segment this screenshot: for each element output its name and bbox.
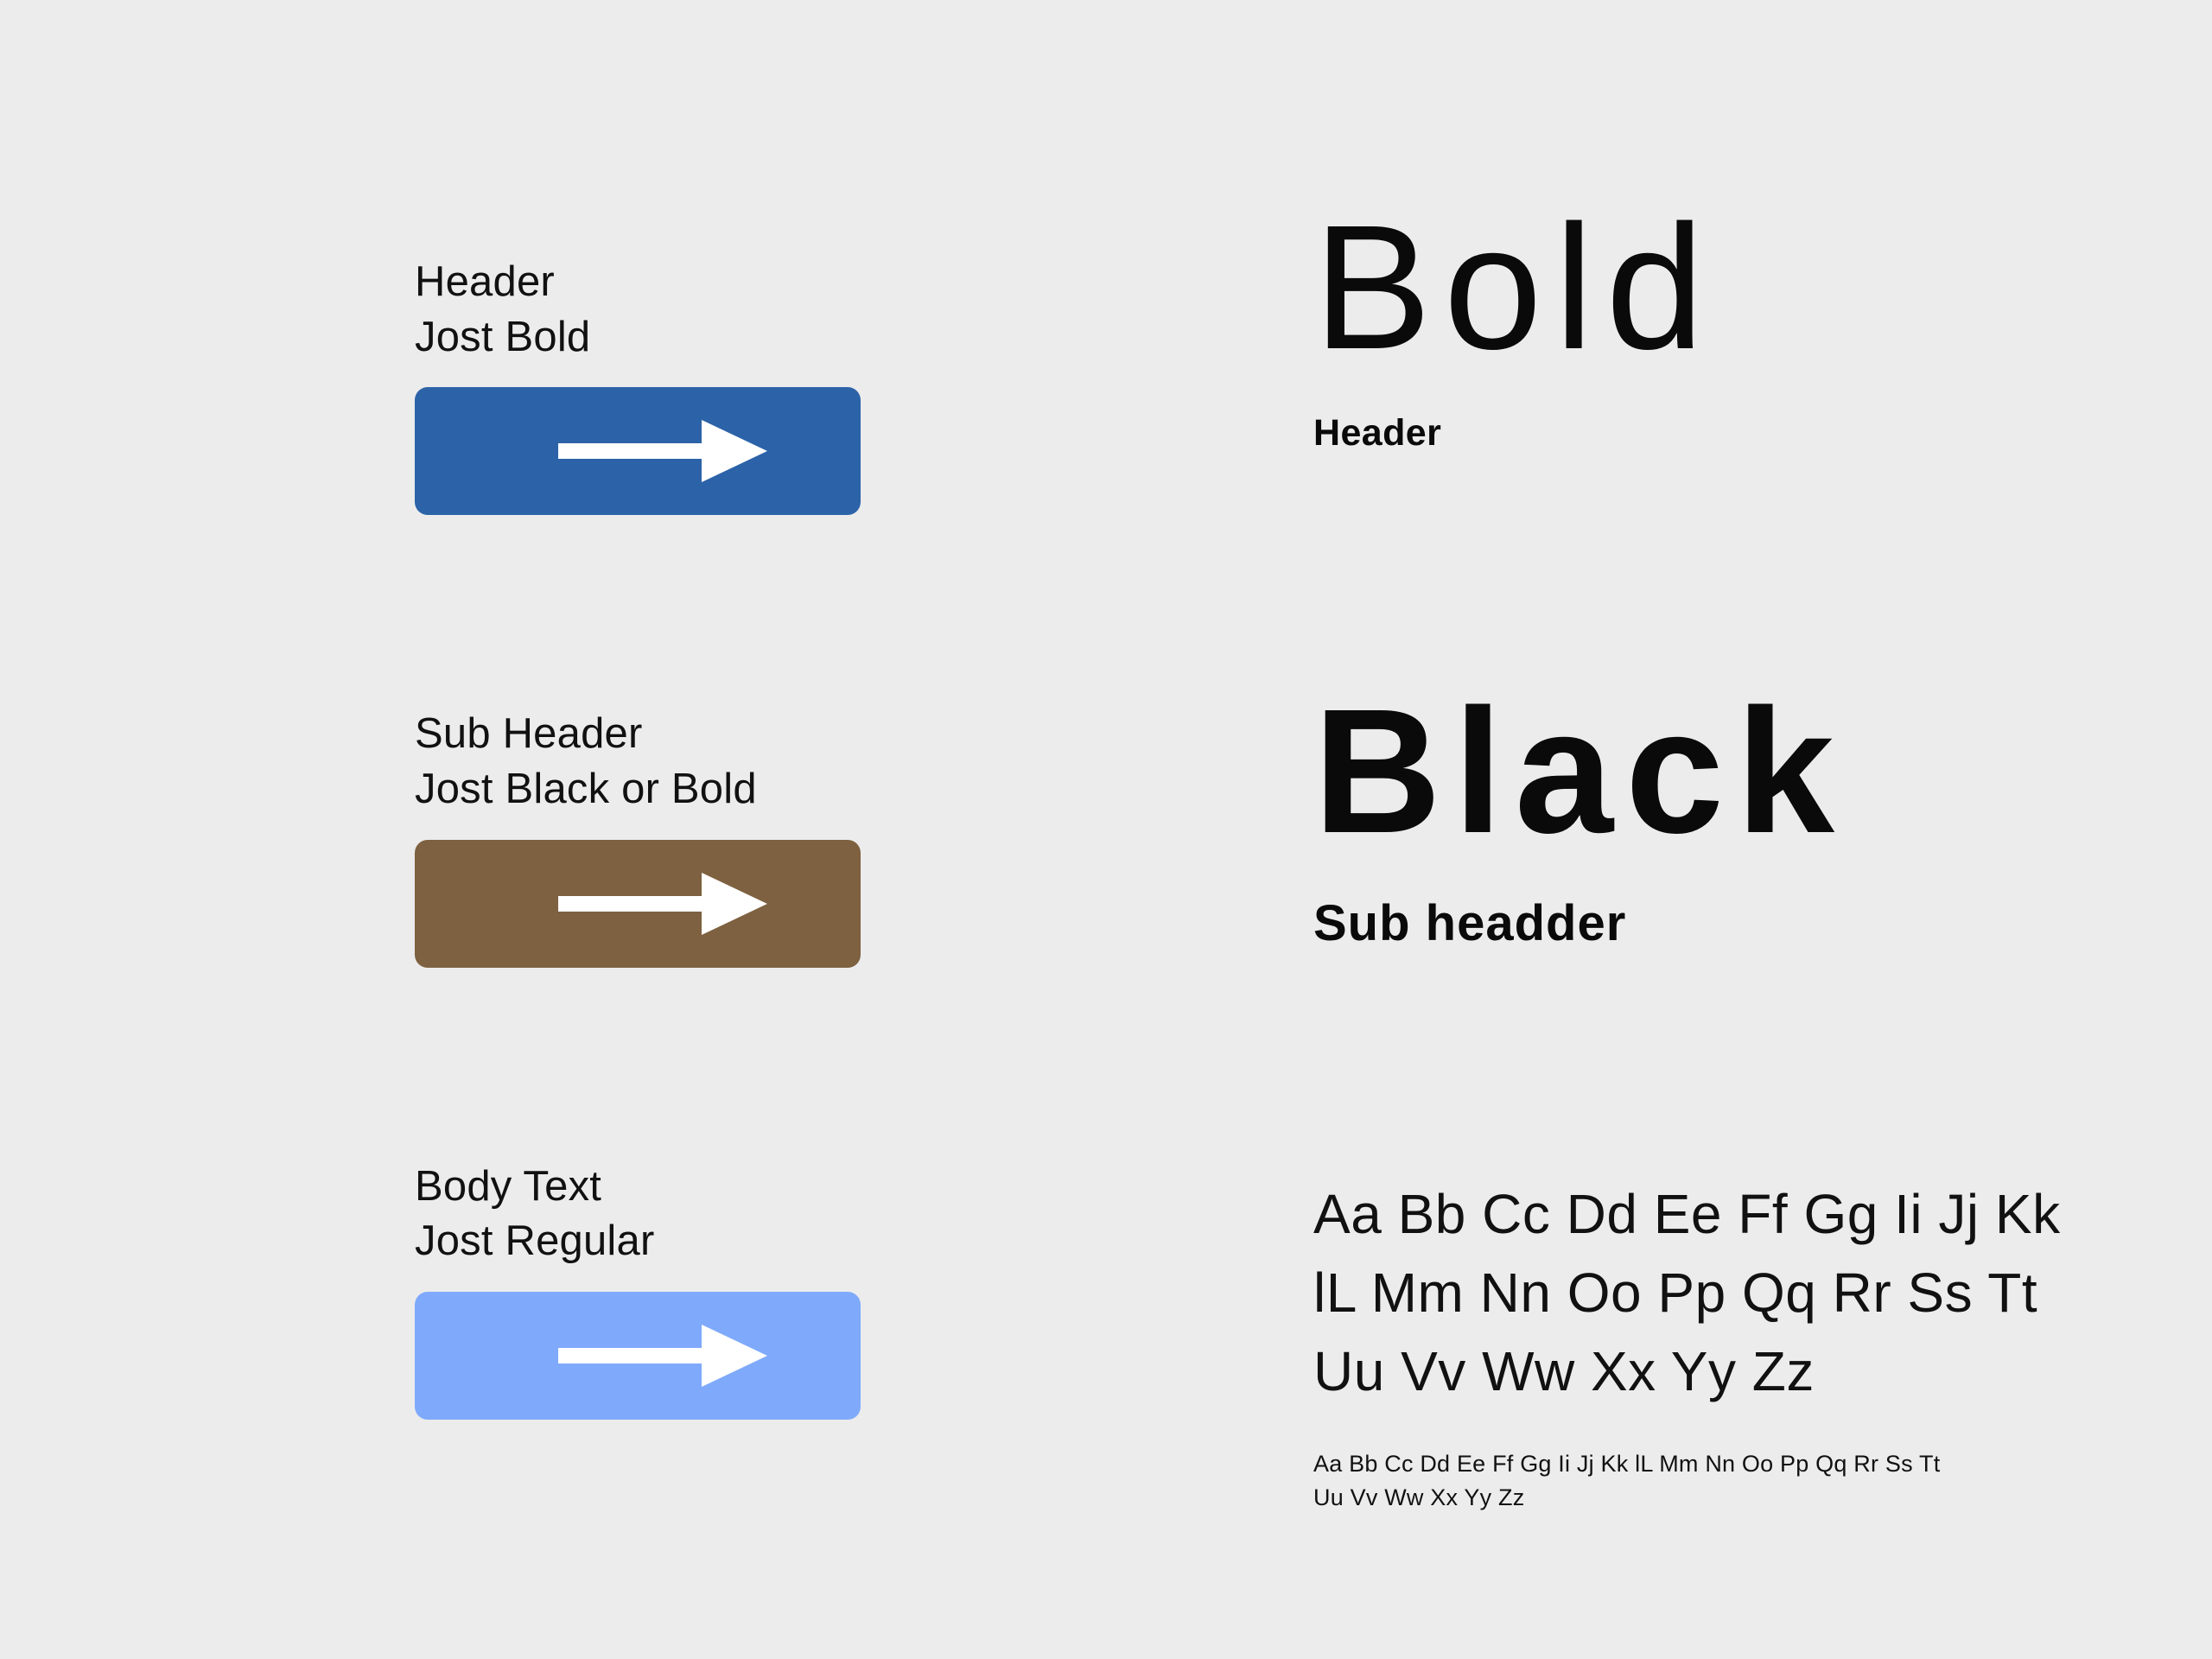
specimen-group-black: Black Sub headder bbox=[1313, 683, 1847, 952]
typography-style-guide: Header Jost Bold Sub Header Jost Black o… bbox=[0, 0, 2212, 1659]
style-font-label-sub-header: Jost Black or Bold bbox=[415, 762, 899, 817]
style-block-sub-header: Sub Header Jost Black or Bold bbox=[415, 707, 899, 967]
specimen-word-bold: Bold bbox=[1313, 199, 1716, 376]
style-label-group-body-text: Body Text Jost Regular bbox=[415, 1160, 899, 1269]
alphabet-small-line-2: Uu Vv Ww Xx Yy Zz bbox=[1313, 1481, 2061, 1515]
style-block-header: Header Jost Bold bbox=[415, 255, 899, 515]
color-swatch-button-body-text[interactable] bbox=[415, 1292, 861, 1420]
style-definitions-column: Header Jost Bold Sub Header Jost Black o… bbox=[415, 255, 899, 1420]
specimen-caption-sub-headder: Sub headder bbox=[1313, 894, 1847, 952]
style-block-body-text: Body Text Jost Regular bbox=[415, 1160, 899, 1420]
arrow-right-icon bbox=[558, 868, 767, 940]
color-swatch-button-sub-header[interactable] bbox=[415, 840, 861, 968]
alphabet-small: Aa Bb Cc Dd Ee Ff Gg Ii Jj Kk lL Mm Nn O… bbox=[1313, 1447, 2061, 1515]
alphabet-large-line-2: lL Mm Nn Oo Pp Qq Rr Ss Tt bbox=[1313, 1254, 2061, 1332]
style-font-label-body-text: Jost Regular bbox=[415, 1214, 899, 1269]
arrow-right-icon bbox=[558, 415, 767, 487]
style-font-label-header: Jost Bold bbox=[415, 310, 899, 365]
color-swatch-button-header[interactable] bbox=[415, 387, 861, 515]
alphabet-large-line-3: Uu Vv Ww Xx Yy Zz bbox=[1313, 1332, 2061, 1411]
alphabet-large: Aa Bb Cc Dd Ee Ff Gg Ii Jj Kk lL Mm Nn O… bbox=[1313, 1175, 2061, 1411]
specimen-group-alphabet: Aa Bb Cc Dd Ee Ff Gg Ii Jj Kk lL Mm Nn O… bbox=[1313, 1175, 2061, 1515]
specimen-word-black: Black bbox=[1313, 683, 1847, 860]
style-role-label-header: Header bbox=[415, 255, 899, 310]
alphabet-small-line-1: Aa Bb Cc Dd Ee Ff Gg Ii Jj Kk lL Mm Nn O… bbox=[1313, 1447, 2061, 1481]
style-label-group-header: Header Jost Bold bbox=[415, 255, 899, 365]
specimen-group-bold: Bold Header bbox=[1313, 199, 1716, 454]
style-role-label-body-text: Body Text bbox=[415, 1160, 899, 1215]
style-label-group-sub-header: Sub Header Jost Black or Bold bbox=[415, 707, 899, 817]
specimen-caption-header: Header bbox=[1313, 412, 1716, 454]
alphabet-large-line-1: Aa Bb Cc Dd Ee Ff Gg Ii Jj Kk bbox=[1313, 1175, 2061, 1254]
arrow-right-icon bbox=[558, 1319, 767, 1392]
style-role-label-sub-header: Sub Header bbox=[415, 707, 899, 762]
